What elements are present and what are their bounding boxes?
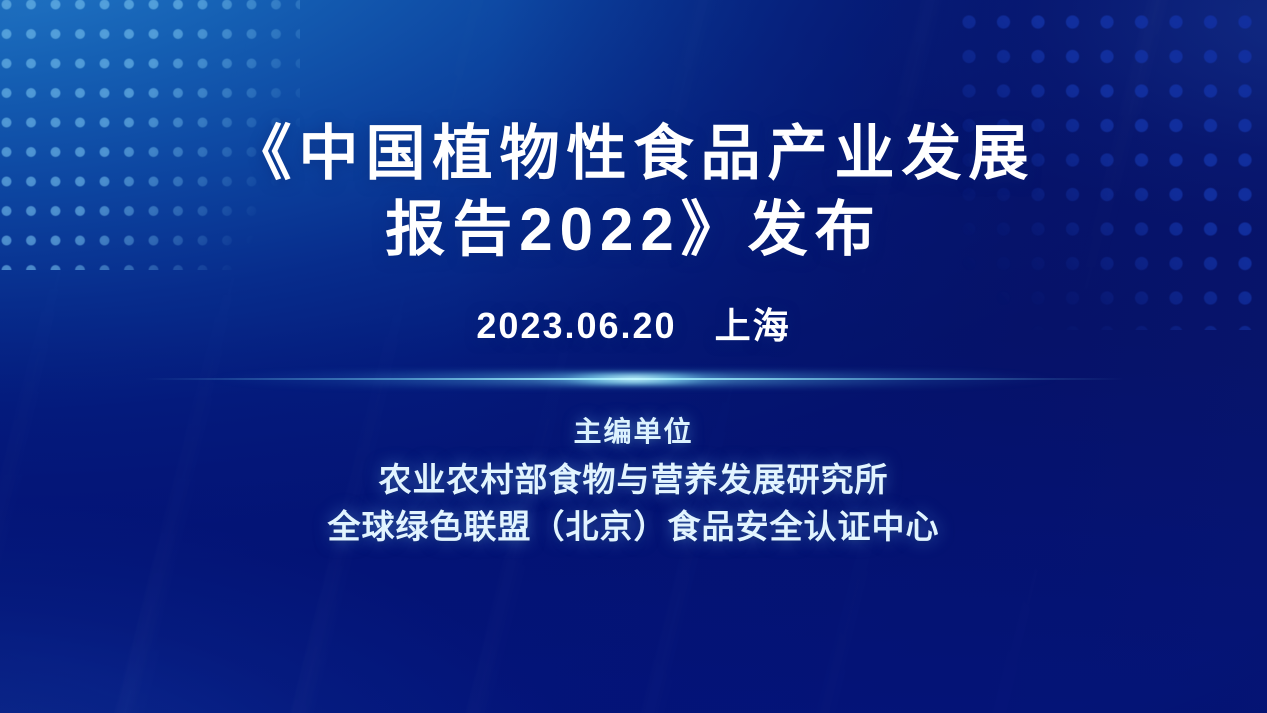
glowing-divider	[0, 368, 1267, 394]
credits-organization-1: 农业农村部食物与营养发展研究所	[328, 456, 940, 503]
title-line-2: 报告2022》发布	[0, 192, 1267, 268]
divider-hotspot	[529, 373, 739, 385]
credits-organization-2: 全球绿色联盟（北京）食品安全认证中心	[328, 503, 940, 550]
date-and-location: 2023.06.20 上海	[476, 304, 790, 348]
credits-heading: 主编单位	[328, 408, 940, 456]
slide-content: 《中国植物性食品产业发展 报告2022》发布 2023.06.20 上海 主编单…	[0, 0, 1267, 713]
slide-title: 《中国植物性食品产业发展 报告2022》发布	[0, 116, 1267, 268]
title-line-1: 《中国植物性食品产业发展	[0, 116, 1267, 192]
credits-block: 主编单位 农业农村部食物与营养发展研究所 全球绿色联盟（北京）食品安全认证中心	[328, 408, 940, 550]
presentation-slide: 《中国植物性食品产业发展 报告2022》发布 2023.06.20 上海 主编单…	[0, 0, 1267, 713]
